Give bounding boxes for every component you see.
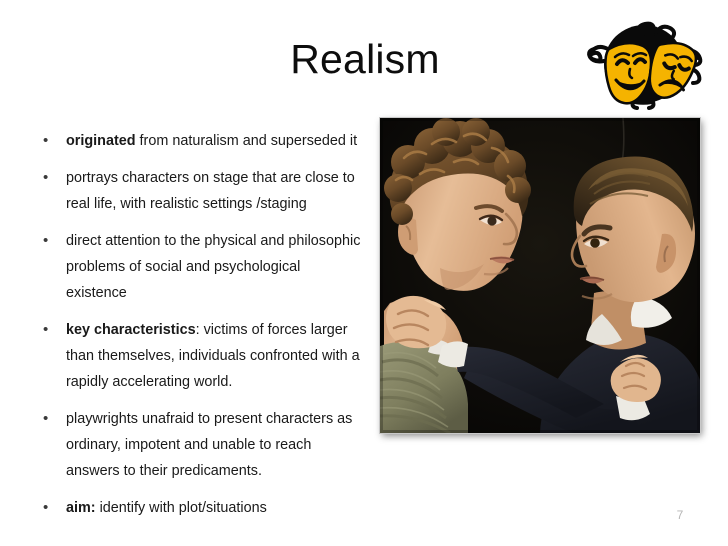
bullet-marker: • — [34, 495, 66, 521]
stage-performance-photo — [380, 118, 700, 433]
list-item: • originated from naturalism and superse… — [34, 128, 364, 154]
theatre-masks-logo — [578, 18, 710, 110]
list-item: • key characteristics: victims of forces… — [34, 317, 364, 395]
bullet-marker: • — [34, 228, 66, 254]
bullet-text: aim: identify with plot/situations — [66, 495, 364, 521]
bullet-text: playwrights unafraid to present characte… — [66, 406, 364, 484]
bullet-list: • originated from naturalism and superse… — [34, 128, 364, 521]
page-number: 7 — [660, 508, 700, 522]
bullet-body: playwrights unafraid to present characte… — [66, 411, 352, 479]
bullet-text: originated from naturalism and supersede… — [66, 128, 364, 154]
bullet-body: identify with plot/situations — [96, 500, 267, 516]
slide: Realism — [0, 0, 728, 546]
bullet-lead-in: key characteristics — [66, 322, 196, 338]
list-item: • playwrights unafraid to present charac… — [34, 406, 364, 484]
bullet-text: portrays characters on stage that are cl… — [66, 165, 364, 217]
bullet-marker: • — [34, 317, 66, 343]
list-item: • aim: identify with plot/situations — [34, 495, 364, 521]
bullet-marker: • — [34, 406, 66, 432]
bullet-body: from naturalism and superseded it — [136, 133, 358, 149]
bullet-text: key characteristics: victims of forces l… — [66, 317, 364, 395]
list-item: • direct attention to the physical and p… — [34, 228, 364, 306]
bullet-body: portrays characters on stage that are cl… — [66, 170, 355, 212]
bullet-marker: • — [34, 128, 66, 154]
list-item: • portrays characters on stage that are … — [34, 165, 364, 217]
bullet-marker: • — [34, 165, 66, 191]
bullet-text: direct attention to the physical and phi… — [66, 228, 364, 306]
bullet-body: direct attention to the physical and phi… — [66, 233, 360, 301]
bullet-lead-in: originated — [66, 133, 136, 149]
bullet-lead-in: aim: — [66, 500, 96, 516]
